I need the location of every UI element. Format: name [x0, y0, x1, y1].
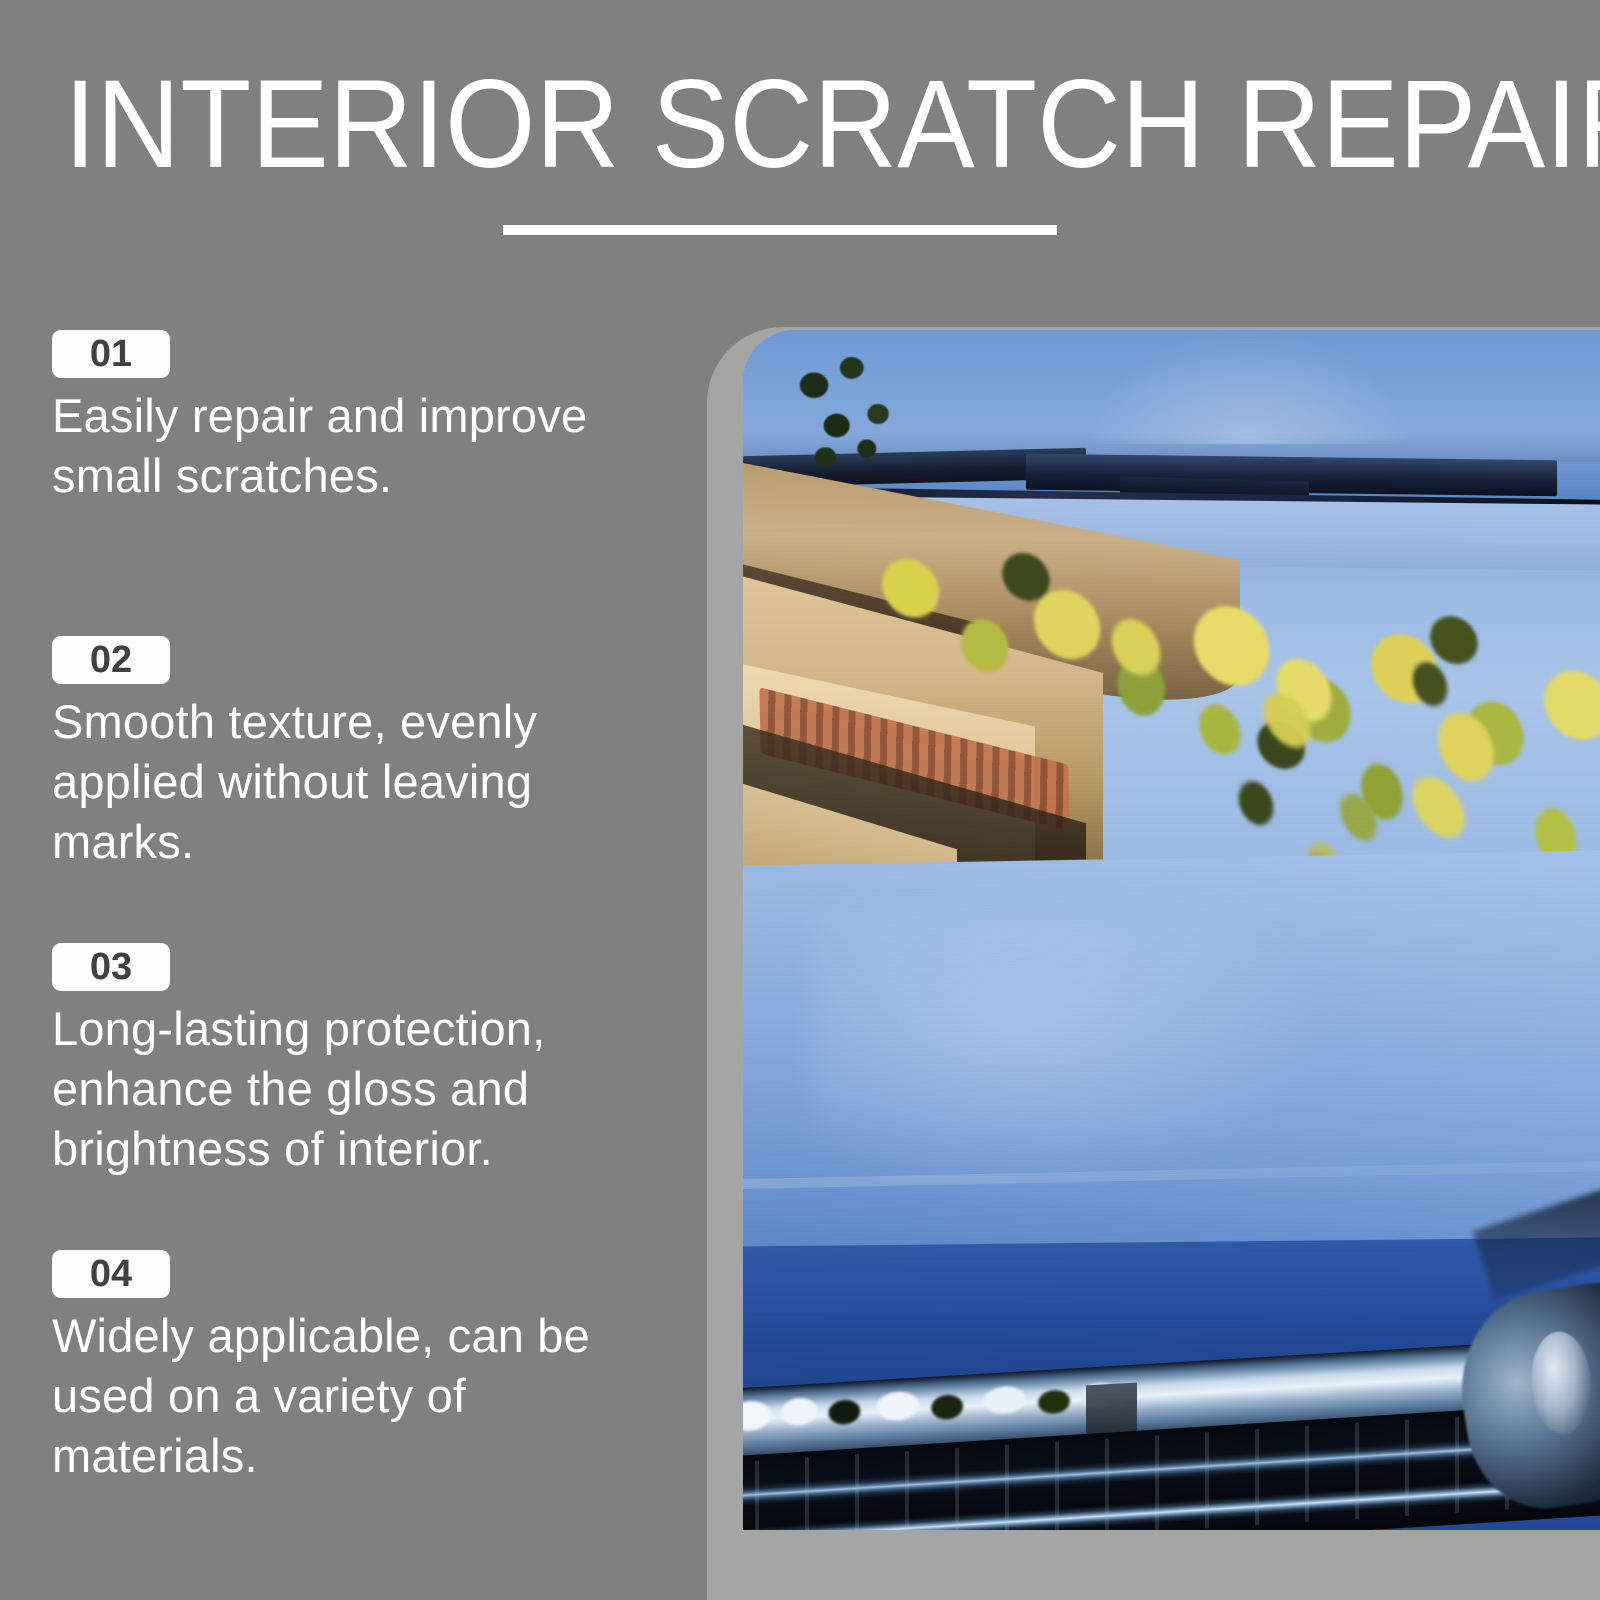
feature-text: Long-lasting protection, enhance the glo… — [52, 999, 612, 1179]
feature-item-03: 03 Long-lasting protection, enhance the … — [52, 943, 652, 1179]
page-title: INTERIOR SCRATCH REPAIR — [64, 62, 1440, 187]
feature-item-02: 02 Smooth texture, evenly applied withou… — [52, 636, 652, 872]
product-photo — [743, 330, 1600, 1530]
feature-number-badge: 03 — [52, 943, 170, 991]
header: INTERIOR SCRATCH REPAIR — [0, 0, 1600, 300]
feature-number-badge: 04 — [52, 1250, 170, 1298]
feature-number-badge: 02 — [52, 636, 170, 684]
feature-text: Widely applicable, can be used on a vari… — [52, 1306, 612, 1486]
product-photo-frame — [707, 327, 1600, 1600]
feature-number-badge: 01 — [52, 330, 170, 378]
photo-grain-overlay — [743, 330, 1600, 1530]
title-divider — [503, 225, 1057, 235]
feature-item-01: 01 Easily repair and improve small scrat… — [52, 330, 652, 506]
feature-list: 01 Easily repair and improve small scrat… — [0, 318, 690, 1600]
feature-item-04: 04 Widely applicable, can be used on a v… — [52, 1250, 652, 1486]
product-feature-poster: INTERIOR SCRATCH REPAIR 01 Easily repair… — [0, 0, 1600, 1600]
feature-text: Easily repair and improve small scratche… — [52, 386, 612, 506]
feature-text: Smooth texture, evenly applied without l… — [52, 692, 612, 872]
